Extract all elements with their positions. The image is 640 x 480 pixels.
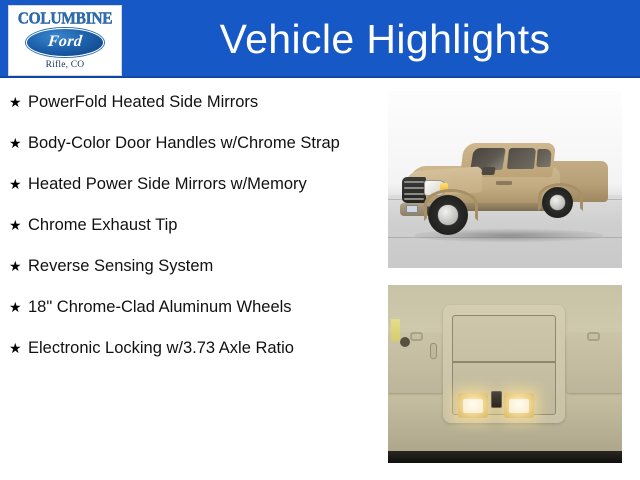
dealer-location-text: Rifle, CO <box>46 61 85 71</box>
star-bullet-icon: ★ <box>9 174 28 195</box>
truck-front-window <box>507 148 536 169</box>
truck-front-wheel <box>428 195 468 235</box>
list-item: ★ Electronic Locking w/3.73 Axle Ratio <box>0 338 378 359</box>
dealer-logo-content: COLUMBINE Ford Rifle, CO <box>9 6 121 75</box>
star-bullet-icon: ★ <box>9 92 28 113</box>
ford-oval-icon: Ford <box>26 28 104 57</box>
passenger-sun-visor <box>566 333 622 393</box>
dome-light-left <box>458 393 488 418</box>
dome-light-right <box>504 393 534 418</box>
vehicle-features-list: ★ PowerFold Heated Side Mirrors ★ Body-C… <box>0 92 378 359</box>
star-bullet-icon: ★ <box>9 215 28 236</box>
mirror-mount <box>400 337 410 347</box>
ford-wordmark: Ford <box>47 34 83 50</box>
feature-label: Heated Power Side Mirrors w/Memory <box>28 174 372 195</box>
truck-side-mirror <box>481 167 495 175</box>
sunroof-panel-divider <box>452 361 556 363</box>
visor-warning-label <box>391 319 400 341</box>
pickup-truck-illustration <box>400 133 612 241</box>
page-title: Vehicle Highlights <box>130 0 640 78</box>
list-item: ★ Heated Power Side Mirrors w/Memory <box>0 174 378 195</box>
truck-license-plate <box>406 205 418 213</box>
star-bullet-icon: ★ <box>9 133 28 154</box>
list-item: ★ Reverse Sensing System <box>0 256 378 277</box>
visor-clip-right <box>587 332 600 341</box>
feature-label: Electronic Locking w/3.73 Axle Ratio <box>28 338 372 359</box>
driver-sun-visor <box>388 333 444 393</box>
feature-label: Body-Color Door Handles w/Chrome Strap <box>28 133 372 154</box>
list-item: ★ 18" Chrome-Clad Aluminum Wheels <box>0 297 378 318</box>
interior-overhead-console-photo[interactable] <box>388 285 622 463</box>
dome-light-switch <box>491 391 502 408</box>
list-item: ★ Body-Color Door Handles w/Chrome Strap <box>0 133 378 154</box>
star-bullet-icon: ★ <box>9 256 28 277</box>
star-bullet-icon: ★ <box>9 297 28 318</box>
truck-door-badge <box>496 181 512 185</box>
feature-label: PowerFold Heated Side Mirrors <box>28 92 372 113</box>
truck-rear-window <box>536 149 551 167</box>
feature-label: Chrome Exhaust Tip <box>28 215 372 236</box>
truck-rear-wheel <box>542 187 573 218</box>
feature-label: Reverse Sensing System <box>28 256 372 277</box>
dealer-logo[interactable]: COLUMBINE Ford Rifle, CO <box>8 5 122 76</box>
dealer-name-text: COLUMBINE <box>18 10 113 27</box>
list-item: ★ PowerFold Heated Side Mirrors <box>0 92 378 113</box>
star-bullet-icon: ★ <box>9 338 28 359</box>
feature-label: 18" Chrome-Clad Aluminum Wheels <box>28 297 372 318</box>
visor-grab-handle <box>430 343 437 359</box>
truck-grille <box>402 177 426 203</box>
visor-clip-left <box>410 332 423 341</box>
list-item: ★ Chrome Exhaust Tip <box>0 215 378 236</box>
windshield-header-shadow <box>388 451 622 463</box>
exterior-truck-photo[interactable] <box>388 91 622 268</box>
